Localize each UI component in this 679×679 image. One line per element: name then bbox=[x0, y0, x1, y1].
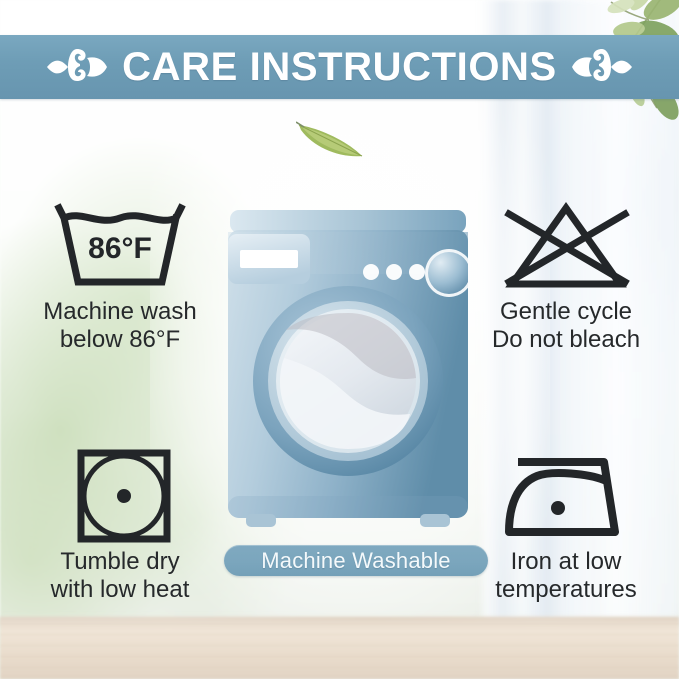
badge-label: Machine Washable bbox=[261, 550, 450, 572]
wood-grain-texture bbox=[0, 623, 679, 679]
care-symbol-machine-wash: 86°F Machine wash below 86°F bbox=[6, 196, 234, 355]
care-symbol-no-bleach: Gentle cycle Do not bleach bbox=[452, 196, 679, 355]
care-symbol-tumble-dry: Tumble dry with low heat bbox=[6, 446, 234, 605]
iron-icon bbox=[491, 446, 641, 546]
fleur-de-lis-icon-left bbox=[46, 45, 108, 89]
machine-washable-badge: Machine Washable bbox=[224, 545, 488, 576]
care-symbol-label: Tumble dry with low heat bbox=[51, 548, 190, 605]
tumble-dry-square-circle-icon bbox=[45, 446, 195, 546]
care-symbol-label: Gentle cycle Do not bleach bbox=[492, 298, 640, 355]
care-instructions-infographic: CARE INSTRUCTIONS bbox=[0, 0, 679, 679]
triangle-crossed-out-icon bbox=[491, 196, 641, 296]
fleur-de-lis-icon-right bbox=[571, 45, 633, 89]
page-title: CARE INSTRUCTIONS bbox=[122, 47, 557, 87]
care-symbol-label: Machine wash below 86°F bbox=[43, 298, 196, 355]
header-banner: CARE INSTRUCTIONS bbox=[0, 35, 679, 99]
washing-machine-illustration bbox=[228, 206, 468, 536]
care-symbol-iron: Iron at low temperatures bbox=[452, 446, 679, 605]
wash-temperature-value: 86°F bbox=[88, 232, 152, 265]
wash-tub-icon: 86°F bbox=[45, 196, 195, 296]
care-symbol-label: Iron at low temperatures bbox=[495, 548, 636, 605]
floating-leaf-icon bbox=[296, 118, 366, 160]
